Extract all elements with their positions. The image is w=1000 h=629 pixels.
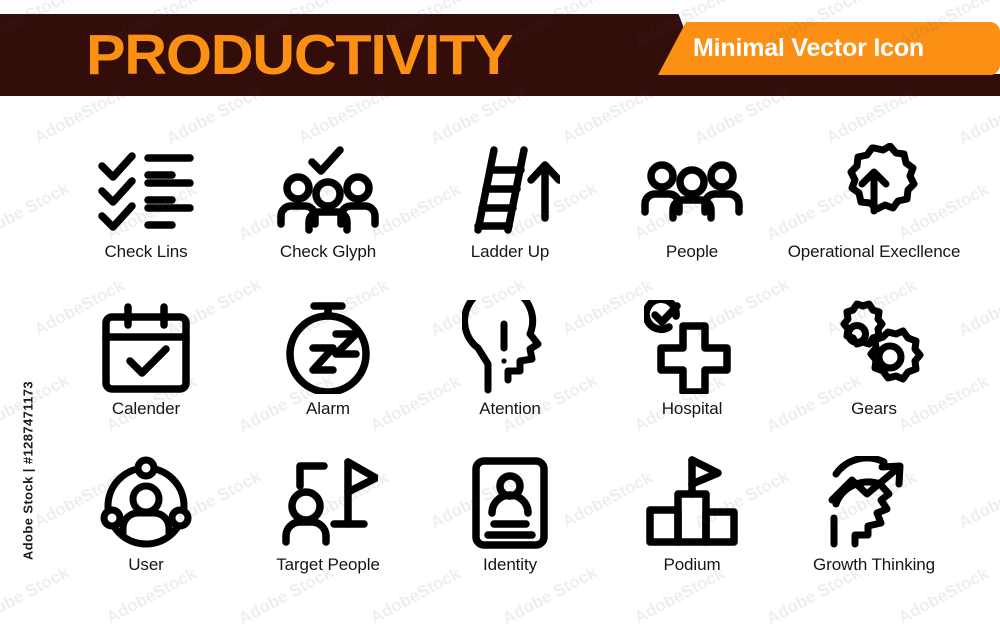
- icon-label: User: [128, 555, 164, 575]
- podium-flag-icon: [622, 453, 762, 553]
- icon-cell-user[interactable]: User: [55, 453, 237, 610]
- page-title: PRODUCTIVITY: [86, 21, 512, 89]
- icon-label: Ladder Up: [471, 242, 550, 262]
- id-card-icon: [440, 453, 580, 553]
- icon-label: Target People: [276, 555, 380, 575]
- person-flag-icon: [258, 453, 398, 553]
- header-badge-label: Minimal Vector Icon: [693, 32, 924, 65]
- head-exclamation-icon: [440, 297, 580, 397]
- people-check-icon: [258, 140, 398, 240]
- ladder-arrow-up-icon: [440, 140, 580, 240]
- icon-label: Gears: [851, 399, 897, 419]
- icon-label: Identity: [483, 555, 537, 575]
- icon-label: Hospital: [662, 399, 723, 419]
- icon-cell-check-glyph[interactable]: Check Glyph: [237, 140, 419, 297]
- two-gears-icon: [804, 297, 944, 397]
- check-list-icon: [76, 140, 216, 240]
- calendar-check-icon: [76, 297, 216, 397]
- icon-cell-check-lins[interactable]: Check Lins: [55, 140, 237, 297]
- icon-cell-atention[interactable]: Atention: [419, 297, 601, 454]
- icon-label: Podium: [663, 555, 720, 575]
- header-dark-tail: [660, 74, 1000, 96]
- icon-grid: Check Lins Check Glyph: [55, 140, 965, 610]
- icon-cell-growth-thinking[interactable]: Growth Thinking: [783, 453, 965, 610]
- icon-cell-alarm[interactable]: Alarm: [237, 297, 419, 454]
- stopwatch-zz-icon: [258, 297, 398, 397]
- icon-label: Check Lins: [104, 242, 187, 262]
- gear-arrow-up-icon: [804, 140, 944, 240]
- icon-label: Growth Thinking: [813, 555, 935, 575]
- icon-cell-gears[interactable]: Gears: [783, 297, 965, 454]
- icon-cell-hospital[interactable]: Hospital: [601, 297, 783, 454]
- icon-cell-operational-excellence[interactable]: Operational Execllence: [783, 140, 965, 297]
- head-growth-arrow-icon: [804, 453, 944, 553]
- icon-label: Check Glyph: [280, 242, 376, 262]
- people-group-icon: [622, 140, 762, 240]
- icon-label: Alarm: [306, 399, 350, 419]
- header-banner: PRODUCTIVITY Minimal Vector Icon: [0, 14, 1000, 96]
- stock-credit-label: Adobe Stock | #1287471173: [21, 351, 36, 591]
- icon-cell-identity[interactable]: Identity: [419, 453, 601, 610]
- icon-cell-podium[interactable]: Podium: [601, 453, 783, 610]
- user-circle-nodes-icon: [76, 453, 216, 553]
- icon-cell-ladder-up[interactable]: Ladder Up: [419, 140, 601, 297]
- icon-cell-people[interactable]: People: [601, 140, 783, 297]
- icon-cell-calender[interactable]: Calender: [55, 297, 237, 454]
- icon-label: Atention: [479, 399, 541, 419]
- icon-label: People: [666, 242, 718, 262]
- icon-label: Calender: [112, 399, 180, 419]
- icon-cell-target-people[interactable]: Target People: [237, 453, 419, 610]
- medical-cross-check-icon: [622, 297, 762, 397]
- icon-label: Operational Execllence: [788, 242, 961, 262]
